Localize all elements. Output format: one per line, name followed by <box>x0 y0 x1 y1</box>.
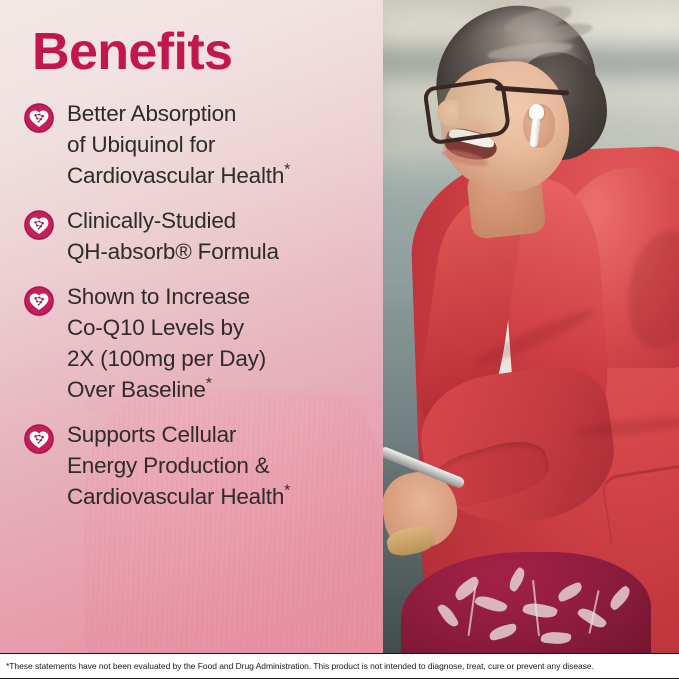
benefit-item: Clinically-Studied QH-absorb® Formula <box>24 205 380 267</box>
heart-molecule-icon <box>24 103 54 133</box>
fda-disclaimer-bar: *These statements have not been evaluate… <box>0 653 679 679</box>
heart-molecule-icon <box>24 286 54 316</box>
heart-molecule-icon <box>24 210 54 240</box>
footnote-marker: * <box>206 376 212 393</box>
benefit-text: Supports Cellular Energy Production & Ca… <box>67 419 290 512</box>
benefit-item: Shown to Increase Co-Q10 Levels by 2X (1… <box>24 281 380 405</box>
heart-molecule-icon <box>24 424 54 454</box>
benefits-infographic: Benefits <box>0 0 679 679</box>
panel-content: Benefits <box>0 0 383 653</box>
floral-petal <box>556 581 585 603</box>
floral-petal <box>488 623 518 641</box>
benefit-text: Clinically-Studied QH-absorb® Formula <box>67 205 279 267</box>
floral-petal <box>576 604 607 631</box>
lifestyle-photo <box>383 0 679 653</box>
benefit-item: Supports Cellular Energy Production & Ca… <box>24 419 380 512</box>
disclaimer-text: *These statements have not been evaluate… <box>0 661 594 671</box>
floral-petal <box>474 592 508 615</box>
floral-petal <box>506 566 528 592</box>
floral-petal <box>606 585 633 612</box>
benefit-text: Better Absorption of Ubiquinol for Cardi… <box>67 98 290 191</box>
footnote-marker: * <box>284 483 290 500</box>
benefits-list: Better Absorption of Ubiquinol for Cardi… <box>24 98 380 526</box>
benefit-item: Better Absorption of Ubiquinol for Cardi… <box>24 98 380 191</box>
floral-petal <box>522 600 558 621</box>
benefit-text: Shown to Increase Co-Q10 Levels by 2X (1… <box>67 281 266 405</box>
page-title: Benefits <box>32 26 232 78</box>
footnote-marker: * <box>284 162 290 179</box>
floral-petal <box>540 630 571 645</box>
coat-pocket <box>600 464 679 544</box>
floral-petal <box>436 602 459 630</box>
